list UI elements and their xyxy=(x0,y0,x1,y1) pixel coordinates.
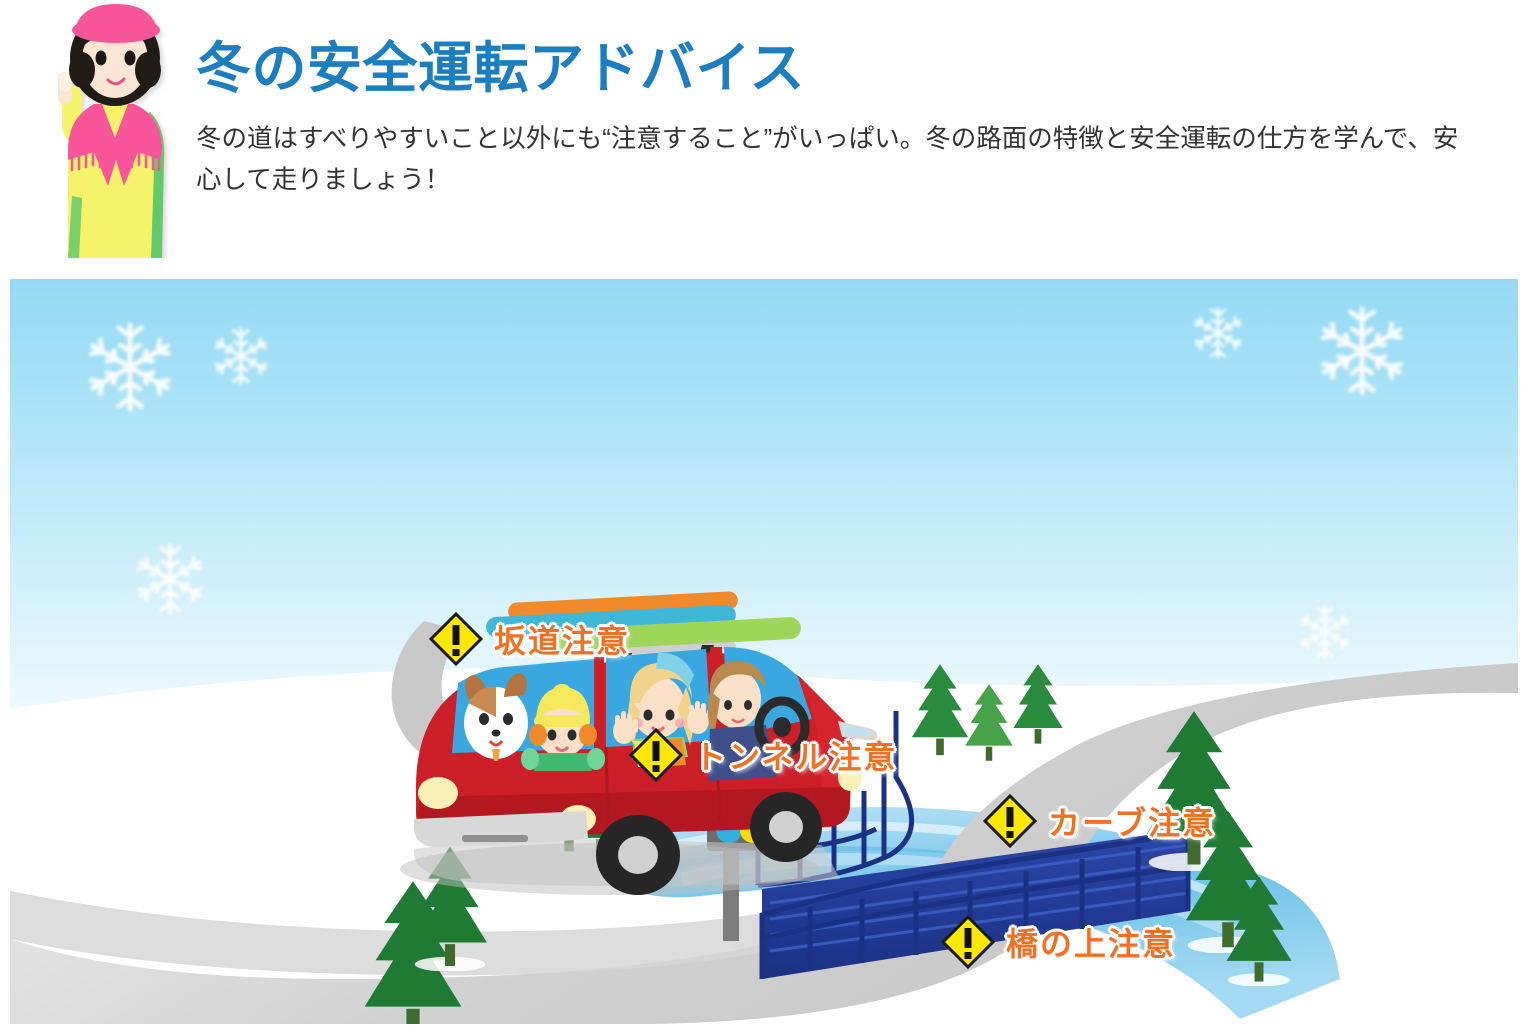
warning-curve-label: カーブ注意 xyxy=(1048,798,1216,844)
exclamation-warning-sign xyxy=(428,611,484,667)
warning-slope-label: 坂道注意 xyxy=(494,616,630,662)
page-header: 冬の安全運転アドバイス 冬の道はすべりやすいこと以外にも“注意すること”がいっぱ… xyxy=(0,0,1536,272)
warning-tunnel-label: トンネル注意 xyxy=(694,732,897,778)
warning-tunnel[interactable]: トンネル注意 xyxy=(628,727,897,783)
exclamation-warning-sign xyxy=(940,914,996,970)
exclamation-warning-sign xyxy=(628,727,684,783)
advisor-woman-illustration xyxy=(38,0,188,258)
page-description: 冬の道はすべりやすいこと以外にも“注意すること”がいっぱい。冬の路面の特徴と安全… xyxy=(196,119,1482,202)
warning-curve[interactable]: カーブ注意 xyxy=(982,793,1216,849)
illustration-canvas xyxy=(10,279,1518,1024)
warning-bridge-label: 橋の上注意 xyxy=(1006,919,1176,965)
page-title: 冬の安全運転アドバイス xyxy=(196,36,1506,101)
warning-bridge[interactable]: 橋の上注意 xyxy=(940,914,1176,970)
header-text-block: 冬の安全運転アドバイス 冬の道はすべりやすいこと以外にも“注意すること”がいっぱ… xyxy=(196,36,1506,201)
exclamation-warning-sign xyxy=(982,793,1038,849)
warning-slope[interactable]: 坂道注意 xyxy=(428,611,630,667)
winter-road-illustration: 坂道注意 トンネル注意 カーブ注意 xyxy=(10,279,1518,1024)
